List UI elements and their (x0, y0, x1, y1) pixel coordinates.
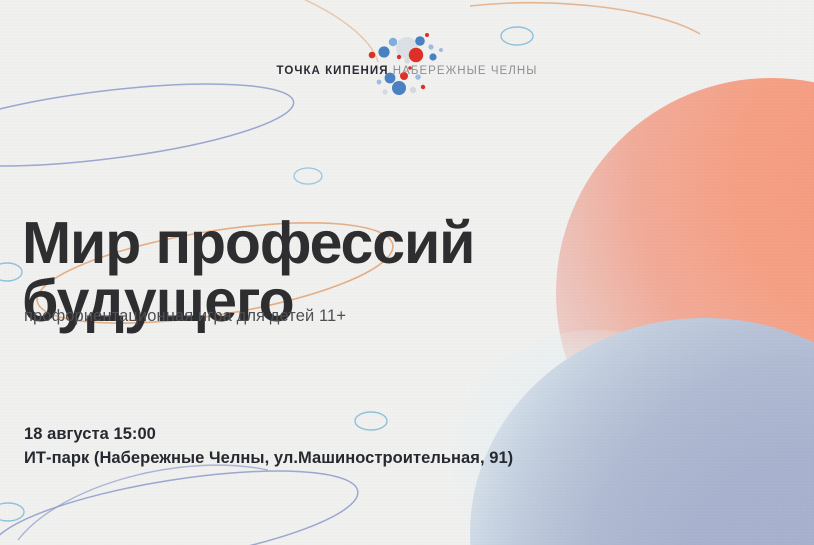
brand-name-secondary: НАБЕРЕЖНЫЕ ЧЕЛНЫ (393, 65, 538, 77)
blue-circle-decoration (470, 318, 814, 545)
oval-mid-left (0, 263, 22, 281)
coral-circle-decoration (556, 78, 814, 508)
oval-headline-left (294, 168, 322, 184)
page-title-line-1: Мир профессий (22, 214, 582, 272)
event-poster: ТОЧКА КИПЕНИЯ НАБЕРЕЖНЫЕ ЧЕЛНЫ Мир профе… (0, 0, 814, 545)
oval-bottom-left (0, 503, 24, 521)
page-subtitle: профориентационная игра для детей 11+ (24, 307, 346, 326)
event-details: 18 августа 15:00 ИТ-парк (Набережные Чел… (24, 423, 513, 471)
brand-logo-text: ТОЧКА КИПЕНИЯ НАБЕРЕЖНЫЕ ЧЕЛНЫ (0, 66, 814, 78)
event-venue: ИТ-парк (Набережные Челны, ул.Машиностро… (24, 447, 513, 471)
brand-logo: ТОЧКА КИПЕНИЯ НАБЕРЕЖНЫЕ ЧЕЛНЫ (0, 30, 814, 105)
brand-name-primary: ТОЧКА КИПЕНИЯ (277, 65, 389, 77)
event-datetime: 18 августа 15:00 (24, 423, 513, 447)
